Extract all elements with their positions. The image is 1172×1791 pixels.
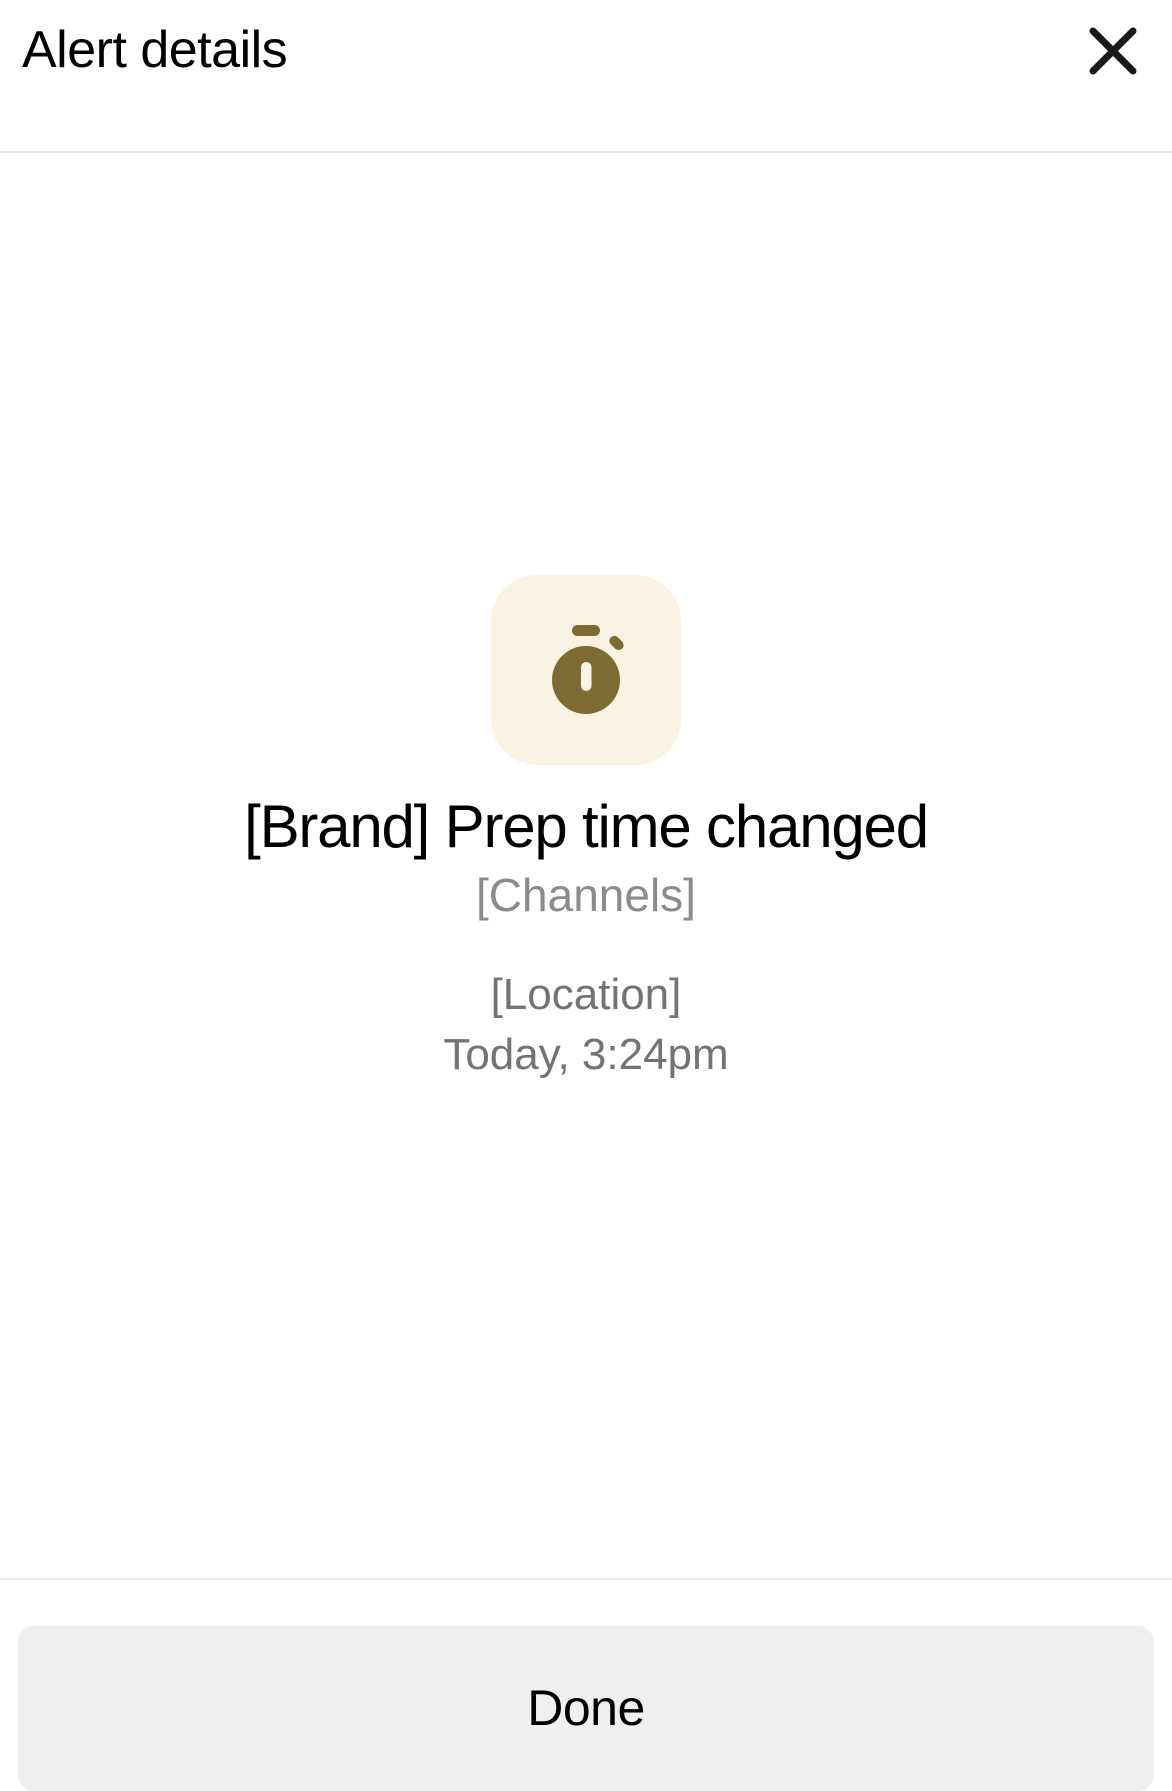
stopwatch-icon bbox=[534, 618, 638, 722]
alert-subtitle: [Channels] bbox=[476, 867, 696, 923]
alert-meta: [Location] Today, 3:24pm bbox=[443, 965, 728, 1085]
alert-location: [Location] bbox=[443, 965, 728, 1025]
alert-title: [Brand] Prep time changed bbox=[244, 791, 928, 863]
sheet-footer: Done bbox=[0, 1578, 1172, 1788]
alert-icon-tile bbox=[491, 575, 681, 765]
close-button[interactable] bbox=[1082, 20, 1144, 82]
page-title: Alert details bbox=[22, 18, 287, 82]
sheet-body: [Brand] Prep time changed [Channels] [Lo… bbox=[0, 153, 1172, 1578]
close-icon bbox=[1086, 24, 1140, 78]
alert-timestamp: Today, 3:24pm bbox=[443, 1025, 728, 1085]
alert-details-sheet: Alert details bbox=[0, 0, 1172, 1788]
sheet-header: Alert details bbox=[0, 0, 1172, 153]
done-button[interactable]: Done bbox=[18, 1626, 1154, 1791]
